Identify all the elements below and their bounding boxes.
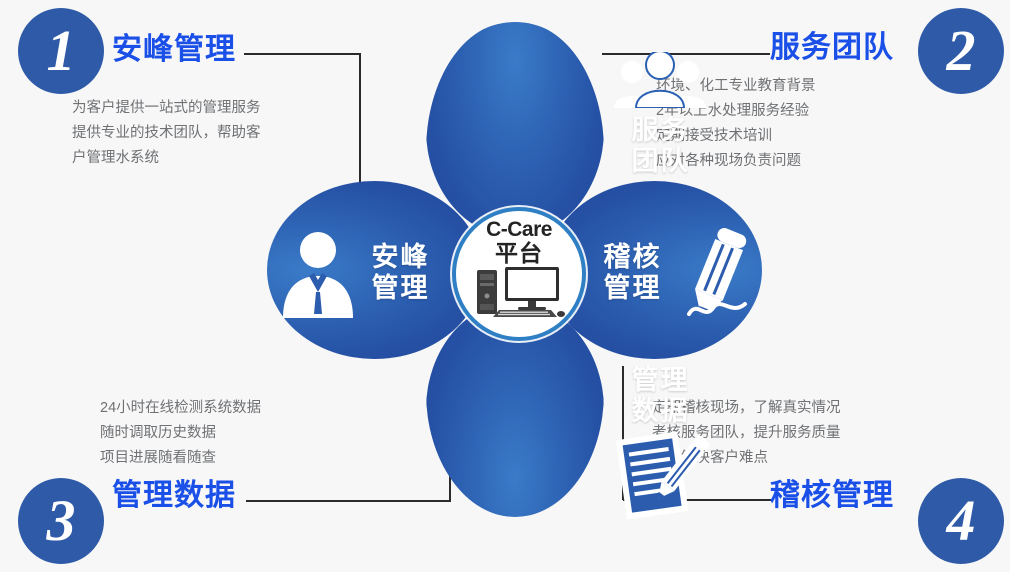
section-body-3: 24小时在线检测系统数据 随时调取历史数据 项目进展随看随查 [100, 396, 261, 471]
petal-label-anfeng-management: 安峰 管理 [343, 242, 458, 304]
section-body-3-line-1: 24小时在线检测系统数据 [100, 396, 261, 421]
petal-label-service-team: 服务 团队 [603, 115, 718, 177]
section-body-3-line-2: 随时调取历史数据 [100, 421, 261, 446]
number-badge-4: 4 [918, 478, 1004, 564]
section-body-1-line-1: 为客户提供一站式的管理服务 [72, 96, 261, 121]
number-badge-3: 3 [18, 478, 104, 564]
petal-service-team[interactable] [426, 22, 604, 237]
section-body-1: 为客户提供一站式的管理服务 提供专业的技术团队，帮助客 户管理水系统 [72, 96, 261, 171]
section-heading-2: 服务团队 [770, 22, 894, 66]
center-hub-title: C-Care [486, 219, 552, 241]
petal-label-audit-management: 稽核 管理 [575, 242, 690, 304]
section-body-3-line-3: 项目进展随看随查 [100, 446, 261, 471]
section-heading-4: 稽核管理 [770, 470, 894, 514]
section-heading-1: 安峰管理 [112, 24, 236, 68]
section-body-1-line-3: 户管理水系统 [72, 146, 261, 171]
infographic-canvas: 1 2 3 4 安峰管理 服务团队 管理数据 稽核管理 为客户提供一站式的管理服… [0, 0, 1010, 572]
people-group-icon [610, 52, 710, 108]
number-badge-2-label: 2 [947, 22, 976, 80]
flower-diagram: 服务 团队 稽核 管理 管理 数据 安峰 管理 C-Care 平台 [255, 10, 775, 530]
section-heading-3: 管理数据 [112, 470, 236, 514]
number-badge-4-label: 4 [947, 492, 976, 550]
number-badge-2: 2 [918, 8, 1004, 94]
clipboard-pencil-icon [613, 428, 713, 520]
section-body-1-line-2: 提供专业的技术团队，帮助客 [72, 121, 261, 146]
number-badge-3-label: 3 [47, 492, 76, 550]
number-badge-1: 1 [18, 8, 104, 94]
center-hub-subtitle: 平台 [495, 241, 543, 265]
center-hub[interactable]: C-Care 平台 [452, 207, 586, 341]
petal-label-management-data: 管理 数据 [603, 365, 718, 427]
number-badge-1-label: 1 [47, 22, 76, 80]
desktop-computer-icon [473, 266, 565, 323]
